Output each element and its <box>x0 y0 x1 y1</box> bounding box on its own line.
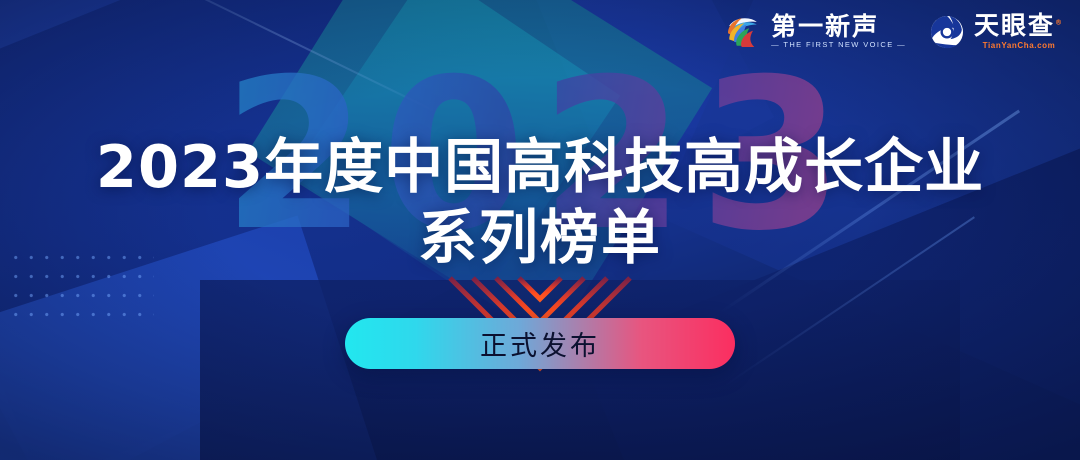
logo-tianyancha-tagline: TianYanCha.com <box>974 40 1064 51</box>
poster-canvas: 2023 2023年度中国高科技高成长企业 系列榜单 <box>0 0 1080 460</box>
logo-diyixinsheng-tagline: — THE FIRST NEW VOICE — <box>771 40 906 51</box>
logo-bar: 第一新声 — THE FIRST NEW VOICE — 天眼查® TianYa… <box>723 12 1064 52</box>
swirl-ribbon-logo-icon <box>723 12 763 52</box>
logo-tianyancha-name-cn: 天眼查 <box>974 11 1055 40</box>
release-badge-label: 正式发布 <box>480 324 600 363</box>
shutter-eye-logo-icon <box>928 13 966 51</box>
logo-diyixinsheng[interactable]: 第一新声 — THE FIRST NEW VOICE — <box>723 12 906 52</box>
logo-tianyancha-text: 天眼查® TianYanCha.com <box>974 13 1064 50</box>
logo-tianyancha[interactable]: 天眼查® TianYanCha.com <box>928 13 1064 51</box>
logo-tianyancha-name: 天眼查® <box>974 13 1064 39</box>
logo-diyixinsheng-name: 第一新声 <box>771 14 906 40</box>
page-title: 2023年度中国高科技高成长企业 系列榜单 <box>0 132 1080 274</box>
title-line-1: 2023年度中国高科技高成长企业 <box>0 132 1080 202</box>
title-line-2: 系列榜单 <box>0 202 1080 274</box>
release-badge[interactable]: 正式发布 <box>345 318 735 369</box>
logo-diyixinsheng-text: 第一新声 — THE FIRST NEW VOICE — <box>771 14 906 51</box>
trademark-icon: ® <box>1055 19 1064 27</box>
